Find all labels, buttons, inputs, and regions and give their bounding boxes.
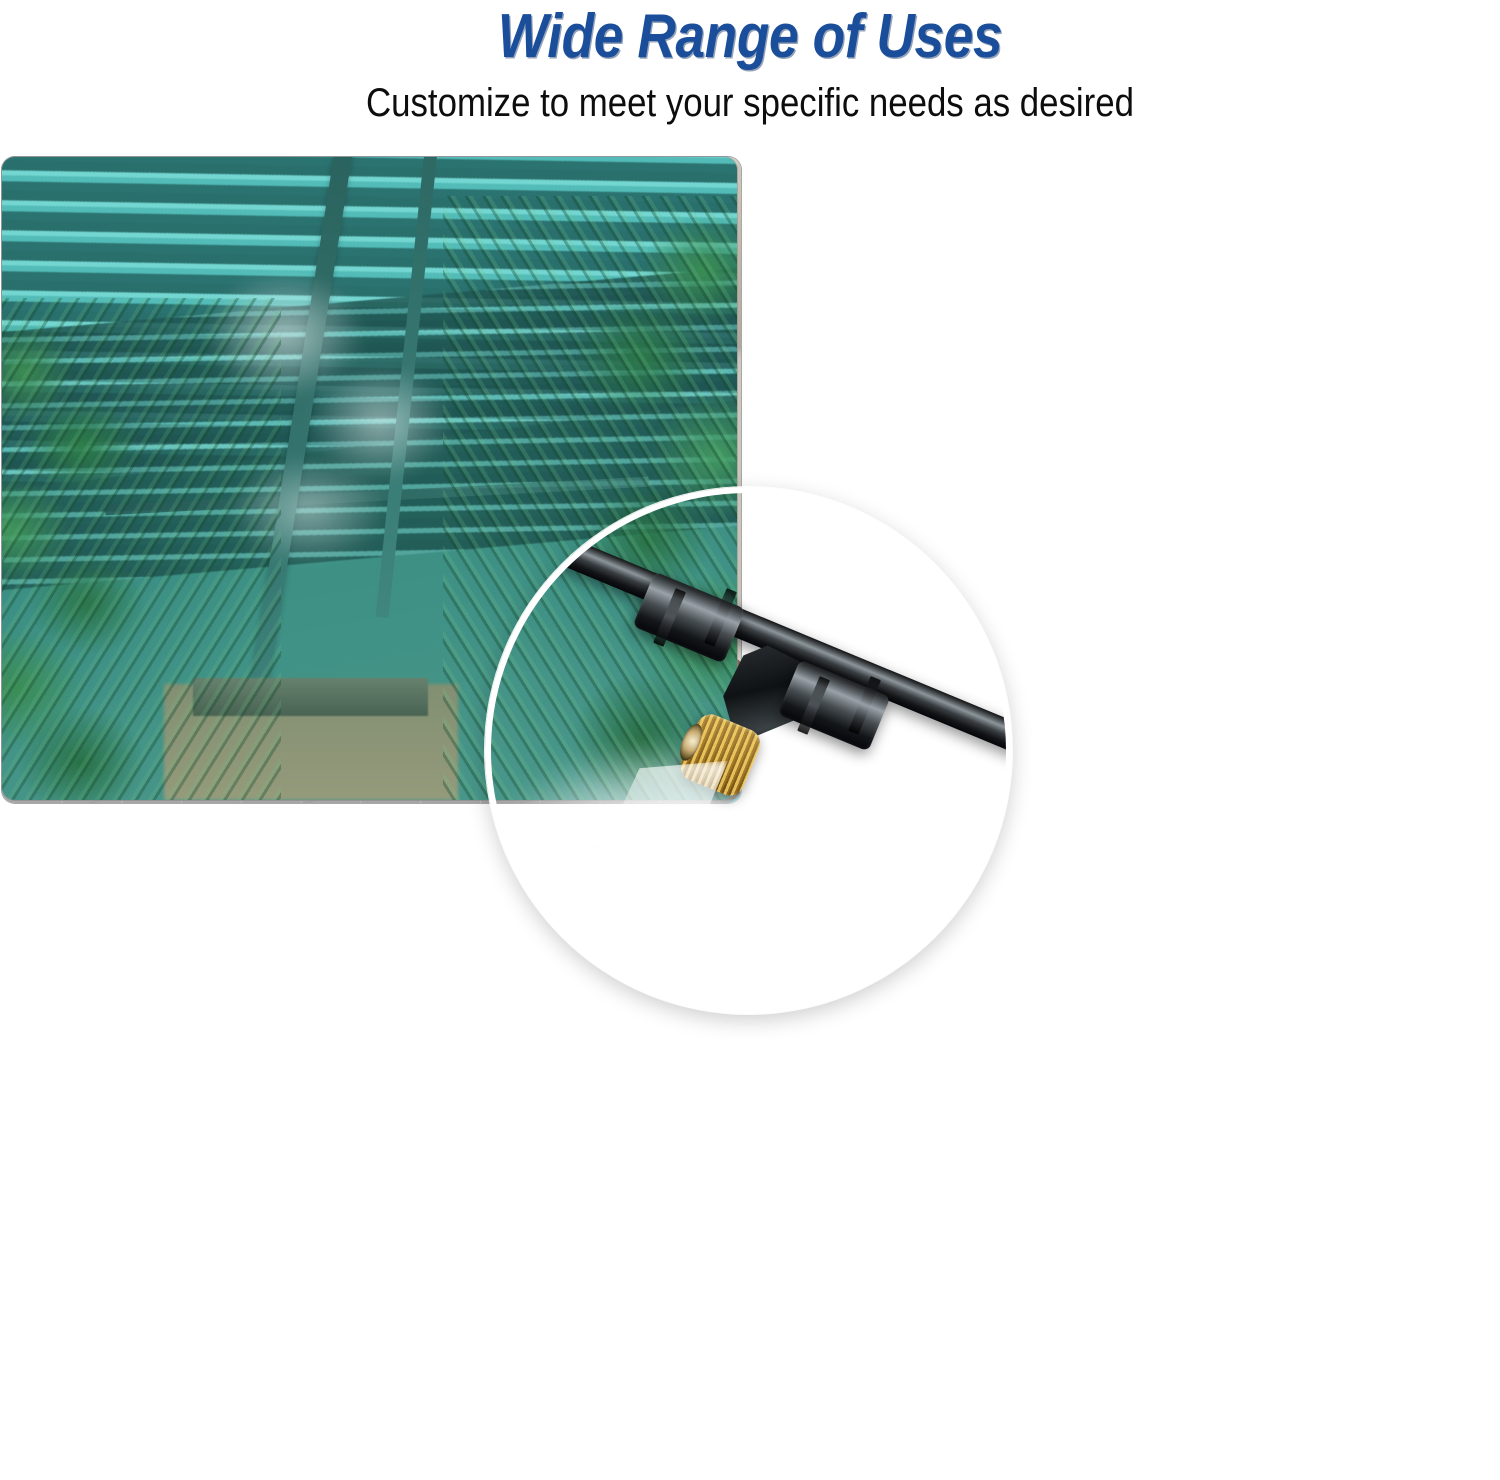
header-banner: Wide Range of Uses Customize to meet you… [0,0,1500,152]
mist-spray-fan [594,761,728,885]
product-closeup-inset[interactable] [485,487,1012,1014]
nozzle-assembly [491,493,1006,1008]
slip-lock-collar-upper [633,572,746,664]
page-title: Wide Range of Uses [105,0,1395,69]
page-subtitle: Customize to meet your specific needs as… [98,69,1403,125]
